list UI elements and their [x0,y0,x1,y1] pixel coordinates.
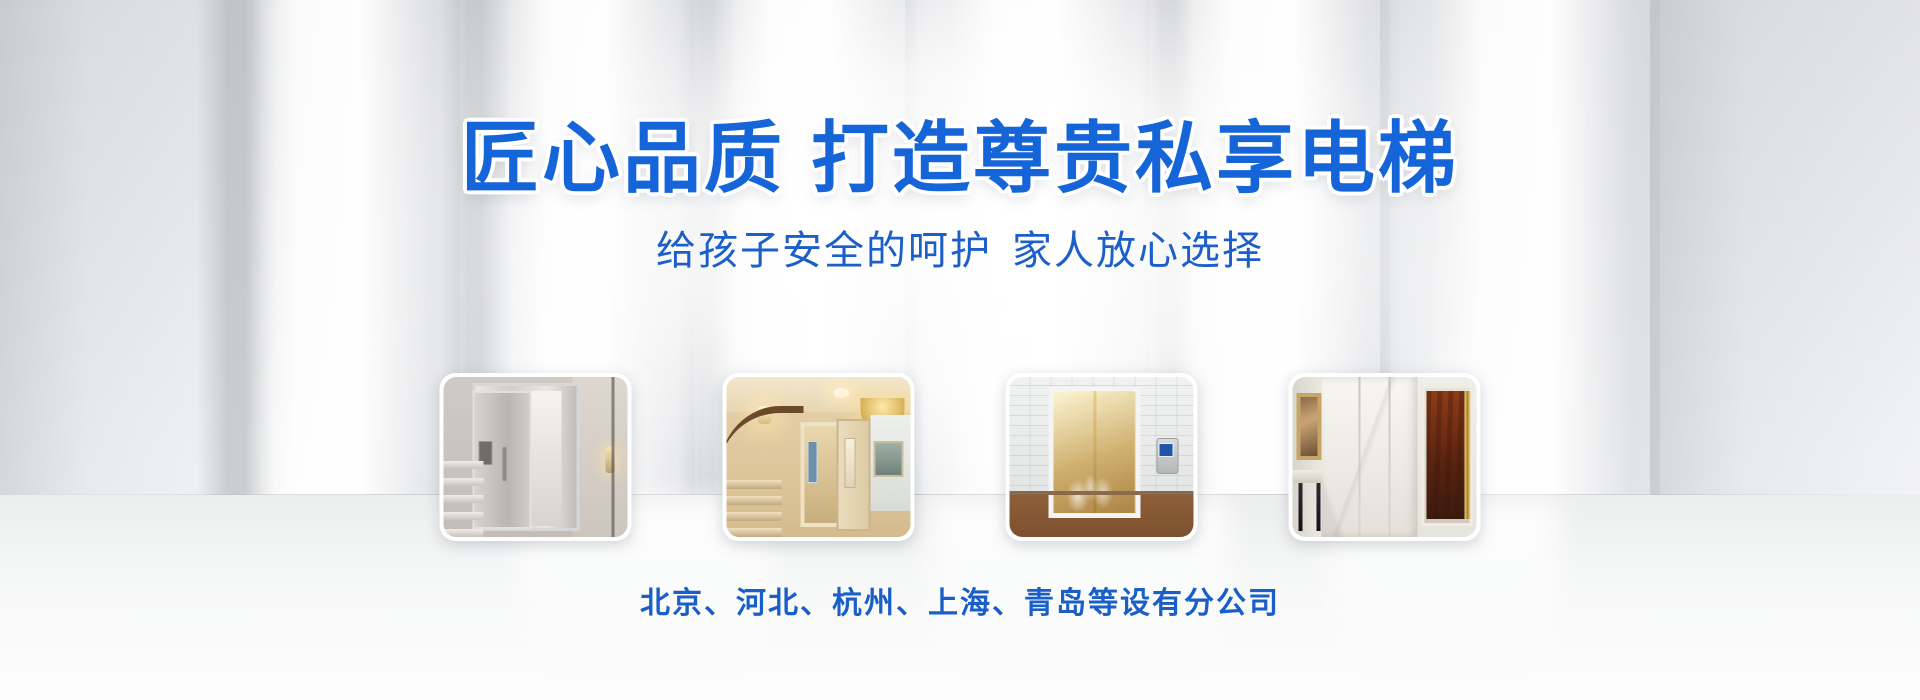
thumbnail-silver-home-elevator-by-staircase[interactable] [440,373,632,541]
subtitle-part1: 给孩子安全的呵护 [656,229,992,273]
stair-step [444,478,484,486]
window [873,441,903,477]
staircase [444,438,484,537]
thumbnail-image [444,377,628,537]
stair-step [444,461,484,469]
call-panel-screen [1158,443,1173,457]
wood-panel-cab-interior [1427,391,1467,519]
marble-seam [1359,377,1361,537]
headline-part2: 打造尊贵私享电梯 [811,114,1459,202]
thumbnail-beige-hall-elevator-with-chandelier[interactable] [723,373,915,541]
thumbnail-gold-glass-door-elevator[interactable] [1006,373,1198,541]
thumbnail-marble-lobby-wood-cab-elevator[interactable] [1289,373,1481,541]
thumbnail-image [727,377,911,537]
call-panel-icon [807,441,817,483]
subtitle-part2: 家人放心选择 [1012,229,1264,273]
table-leg [1298,483,1302,531]
gilt-mirror [1296,393,1322,460]
stair-step [727,496,782,505]
door-glass-panel [844,438,855,488]
subtitle: 给孩子安全的呵护家人放心选择 [0,218,1920,276]
banner-content: 匠心品质打造尊贵私享电梯 给孩子安全的呵护家人放心选择 [0,0,1920,700]
door-handle-icon [502,447,506,481]
stair-step [444,529,484,537]
floor-edge [1010,491,1194,495]
console-table [1293,470,1324,483]
stair-step [444,495,484,503]
stair-handrail [727,406,804,496]
side-wall [572,377,627,537]
product-thumbnail-gallery [440,373,1481,541]
headline-part1: 匠心品质 [461,114,785,202]
stair-step [444,512,484,520]
brass-door-post [1464,391,1470,519]
headline: 匠心品质打造尊贵私享电梯 [0,96,1920,208]
branch-offices-caption: 北京、河北、杭州、上海、青岛等设有分公司 [0,578,1920,622]
marble-wall [1322,377,1418,537]
thumbnail-image [1293,377,1477,537]
etched-floral-pattern [1057,457,1131,511]
stair-step [727,528,782,537]
hero-banner: 匠心品质打造尊贵私享电梯 给孩子安全的呵护家人放心选择 [0,0,1920,700]
ceiling-downlight-icon [833,388,849,398]
table-leg [1316,483,1320,531]
marble-seam [1388,377,1390,537]
thumbnail-image [1010,377,1194,537]
stair-step [727,512,782,521]
glass-railing [612,377,615,537]
